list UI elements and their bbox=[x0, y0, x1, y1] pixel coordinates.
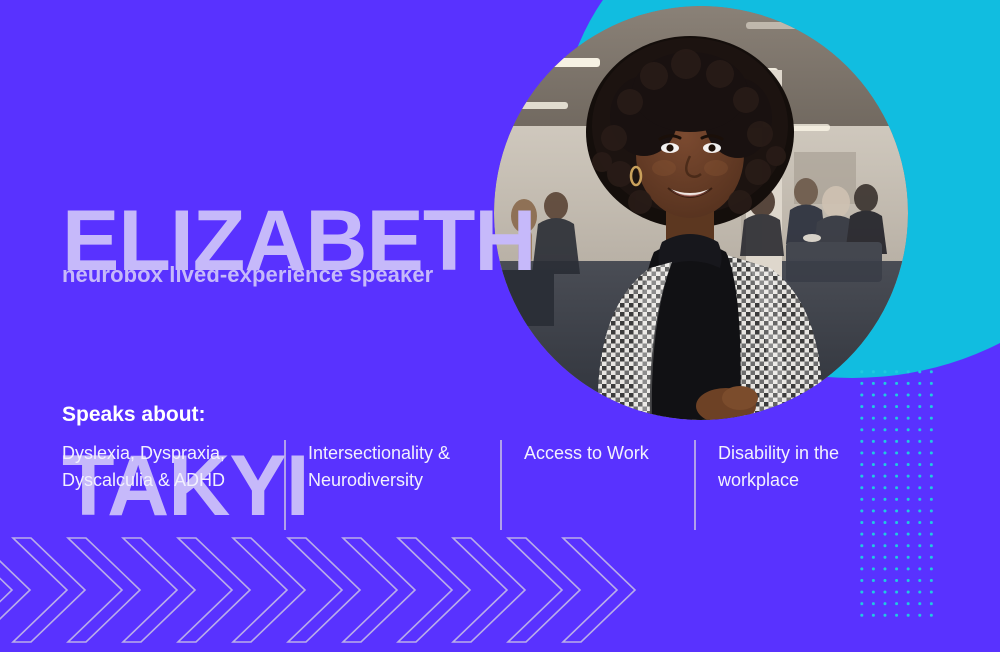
topic-divider bbox=[500, 440, 502, 530]
speaker-name: ELIZABETH TAKYI bbox=[62, 38, 536, 652]
topic-item: Dyslexia, Dyspraxia, Dyscalculia & ADHD bbox=[62, 440, 284, 495]
speaker-photo bbox=[494, 6, 908, 420]
topic-divider bbox=[694, 440, 696, 530]
topic-item: Intersectionality & Neurodiversity bbox=[308, 440, 500, 495]
topic-item: Access to Work bbox=[524, 440, 694, 467]
speaks-about-topics: Dyslexia, Dyspraxia, Dyscalculia & ADHD … bbox=[62, 440, 890, 530]
topic-divider bbox=[284, 440, 286, 530]
speaker-poster: ELIZABETH TAKYI neurobox lived-experienc… bbox=[0, 0, 1000, 652]
topic-item: Disability in the workplace bbox=[718, 440, 890, 495]
speaker-subtitle: neurobox lived-experience speaker bbox=[62, 262, 433, 288]
speaks-about-label: Speaks about: bbox=[62, 403, 206, 427]
